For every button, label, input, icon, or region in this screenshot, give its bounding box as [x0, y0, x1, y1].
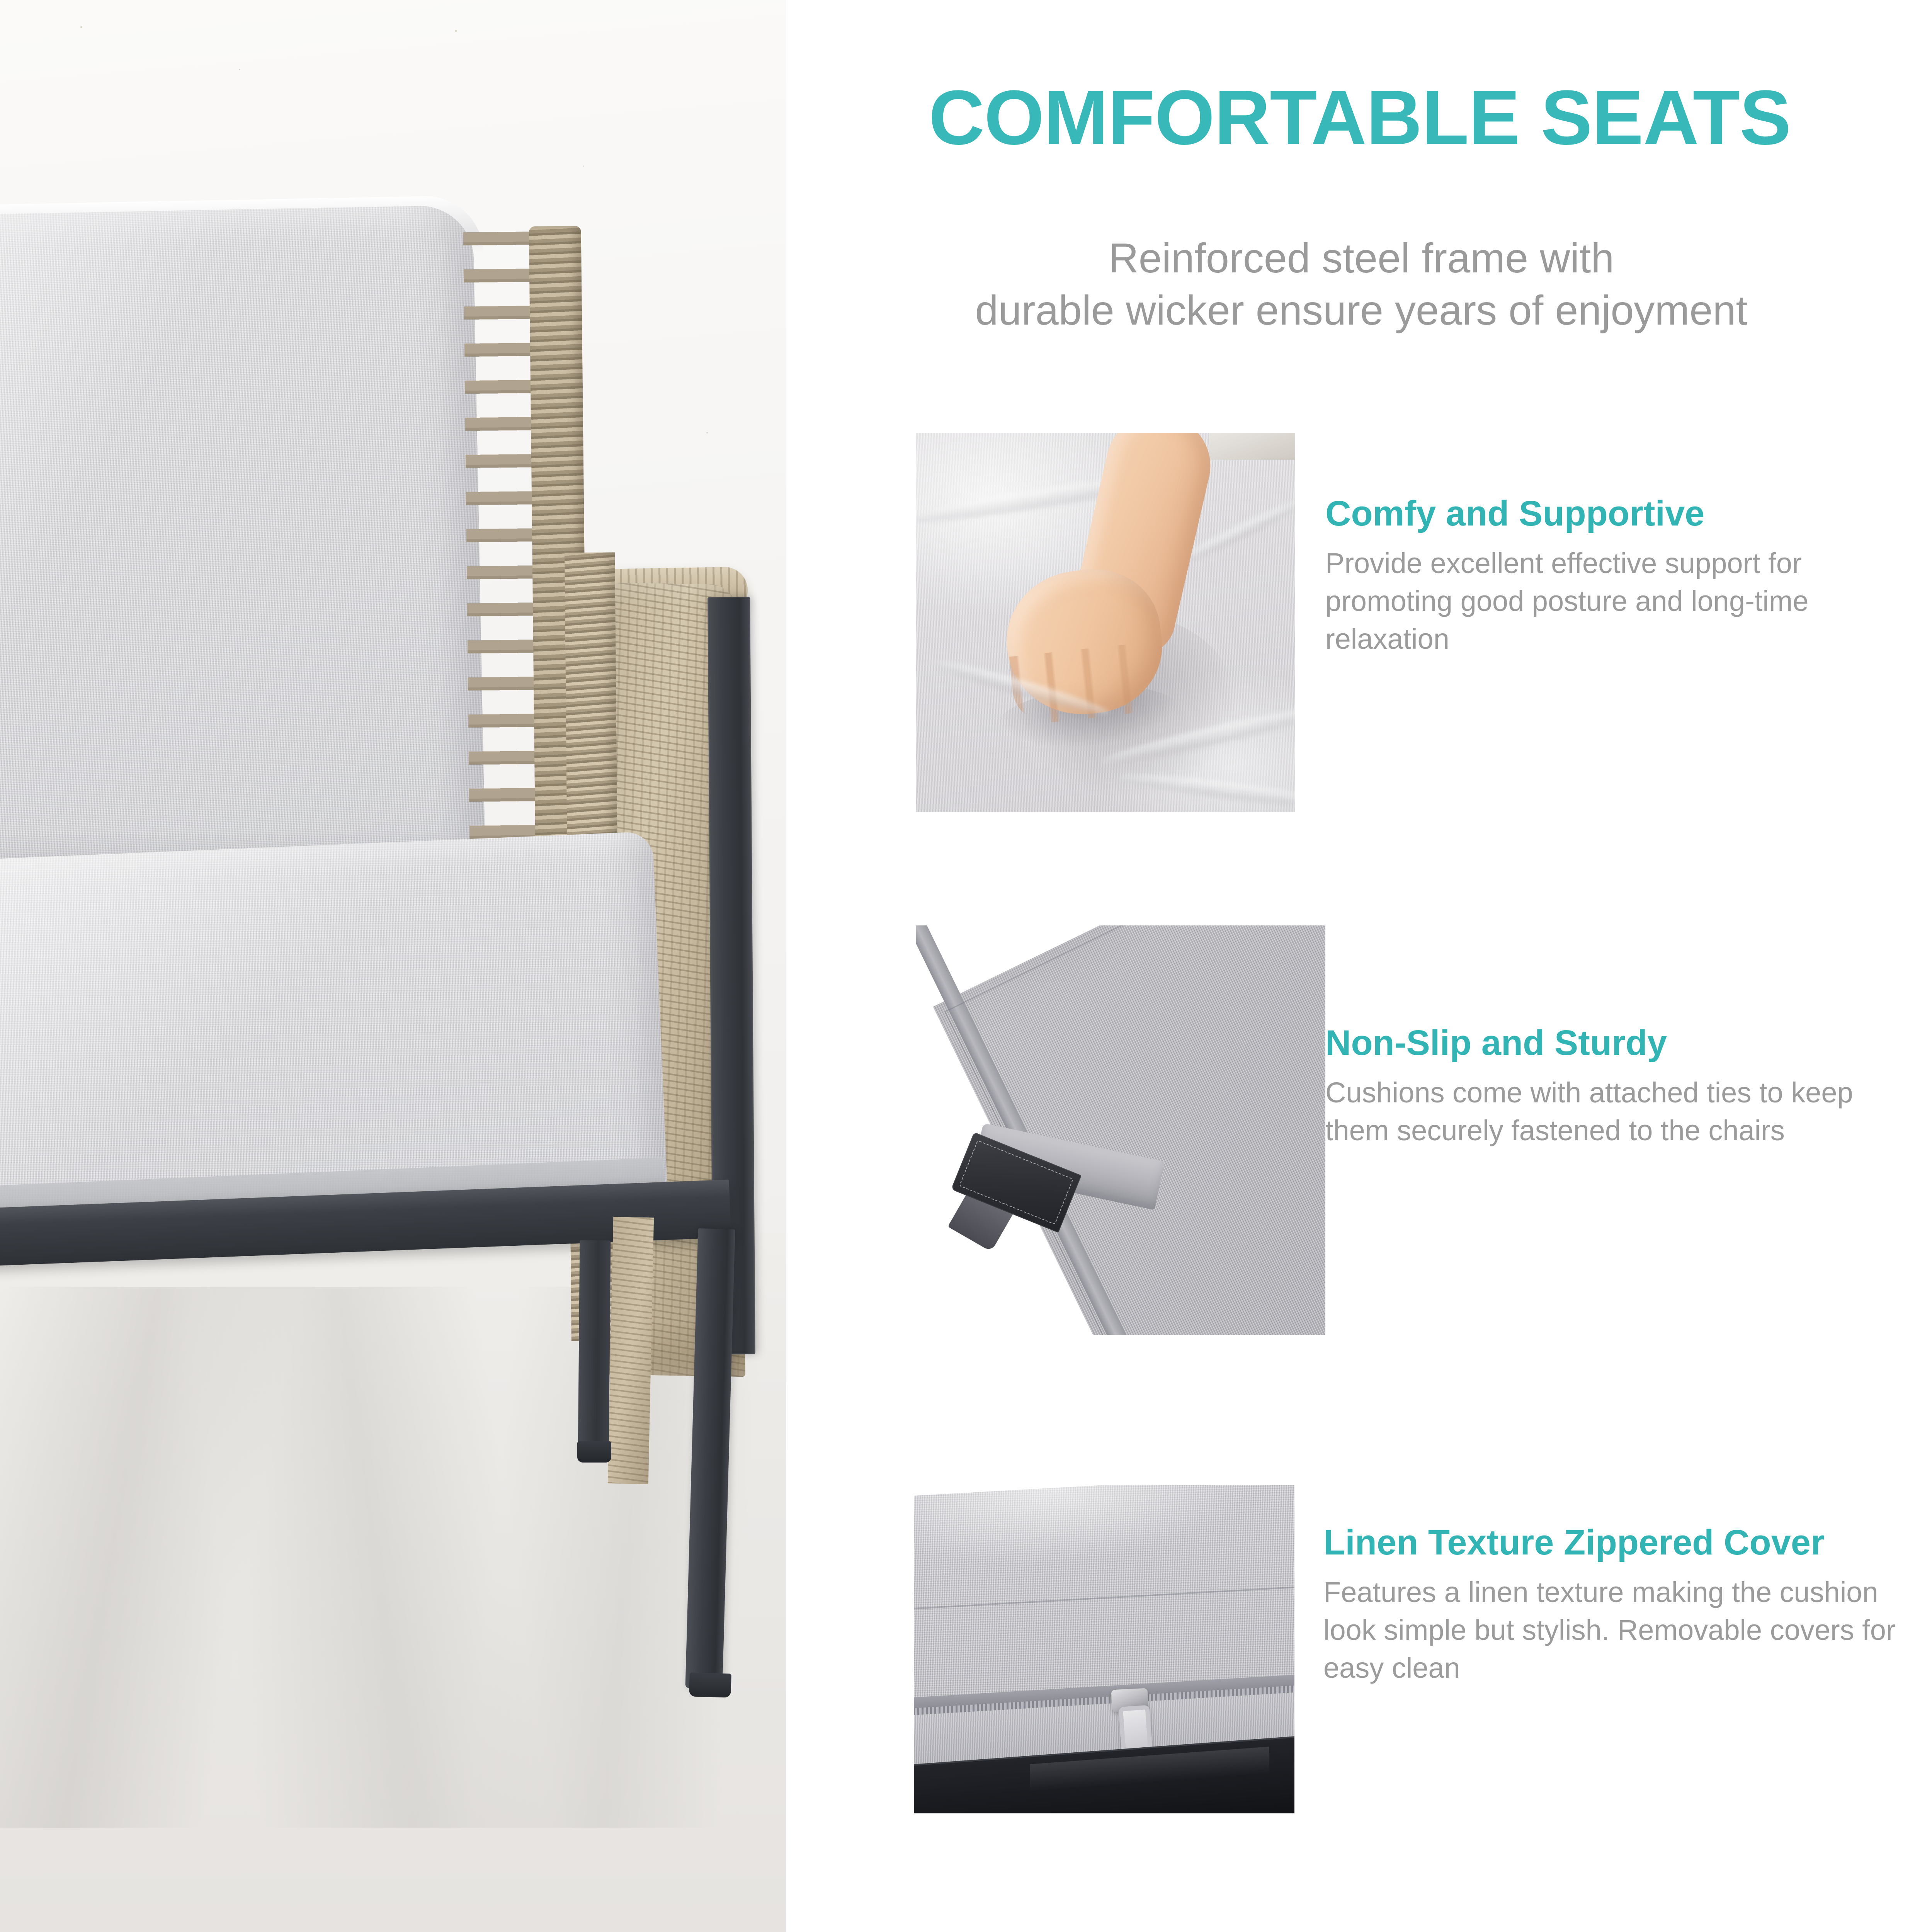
- feature-linen-texture-zippered-cover: Linen Texture Zippered Cover Features a …: [914, 1485, 1918, 1867]
- feature-3-thumbnail: [914, 1485, 1294, 1813]
- content-panel: COMFORTABLE SEATS Reinforced steel frame…: [787, 0, 1932, 1932]
- feature-1-text: Comfy and Supportive Provide excellent e…: [1325, 493, 1897, 658]
- feature-comfy-and-supportive: Comfy and Supportive Provide excellent e…: [916, 433, 1920, 815]
- back-cushion: [0, 205, 485, 877]
- page-title: COMFORTABLE SEATS: [787, 79, 1932, 156]
- feature-2-body: Cushions come with attached ties to keep…: [1325, 1074, 1905, 1150]
- page-subtitle: Reinforced steel frame with durable wick…: [803, 232, 1920, 336]
- feature-2-text: Non-Slip and Sturdy Cushions come with a…: [1325, 1022, 1905, 1150]
- feature-3-title: Linen Texture Zippered Cover: [1323, 1522, 1903, 1563]
- cushion-background-strip: [1209, 433, 1295, 460]
- feature-3-text: Linen Texture Zippered Cover Features a …: [1323, 1522, 1903, 1687]
- zippered-cushion-image: [914, 1485, 1294, 1813]
- hand-pressing-cushion-image: [916, 433, 1295, 812]
- feature-1-thumbnail: [916, 433, 1295, 812]
- infographic-page: COMFORTABLE SEATS Reinforced steel frame…: [0, 0, 1932, 1932]
- chair-leg-front-foot: [689, 1673, 731, 1698]
- chair-leg-rear-foot: [577, 1441, 611, 1463]
- cushion-tie-strap-image: [916, 925, 1325, 1335]
- feature-1-body: Provide excellent effective support for …: [1325, 544, 1897, 658]
- feature-2-thumbnail: [916, 925, 1325, 1335]
- subtitle-line-1: Reinforced steel frame with: [1109, 235, 1614, 281]
- product-hero-photo: [0, 0, 786, 1932]
- feature-non-slip-and-sturdy: Non-Slip and Sturdy Cushions come with a…: [916, 925, 1920, 1335]
- linen-cushion-sheen: [914, 1485, 1294, 1612]
- subtitle-line-2: durable wicker ensure years of enjoyment: [803, 284, 1920, 336]
- feature-3-body: Features a linen texture making the cush…: [1323, 1573, 1903, 1687]
- chair-leg-rear: [578, 1240, 611, 1457]
- wicker-side-sliver: [608, 1217, 654, 1484]
- feature-2-title: Non-Slip and Sturdy: [1325, 1022, 1905, 1064]
- feature-1-title: Comfy and Supportive: [1325, 493, 1897, 534]
